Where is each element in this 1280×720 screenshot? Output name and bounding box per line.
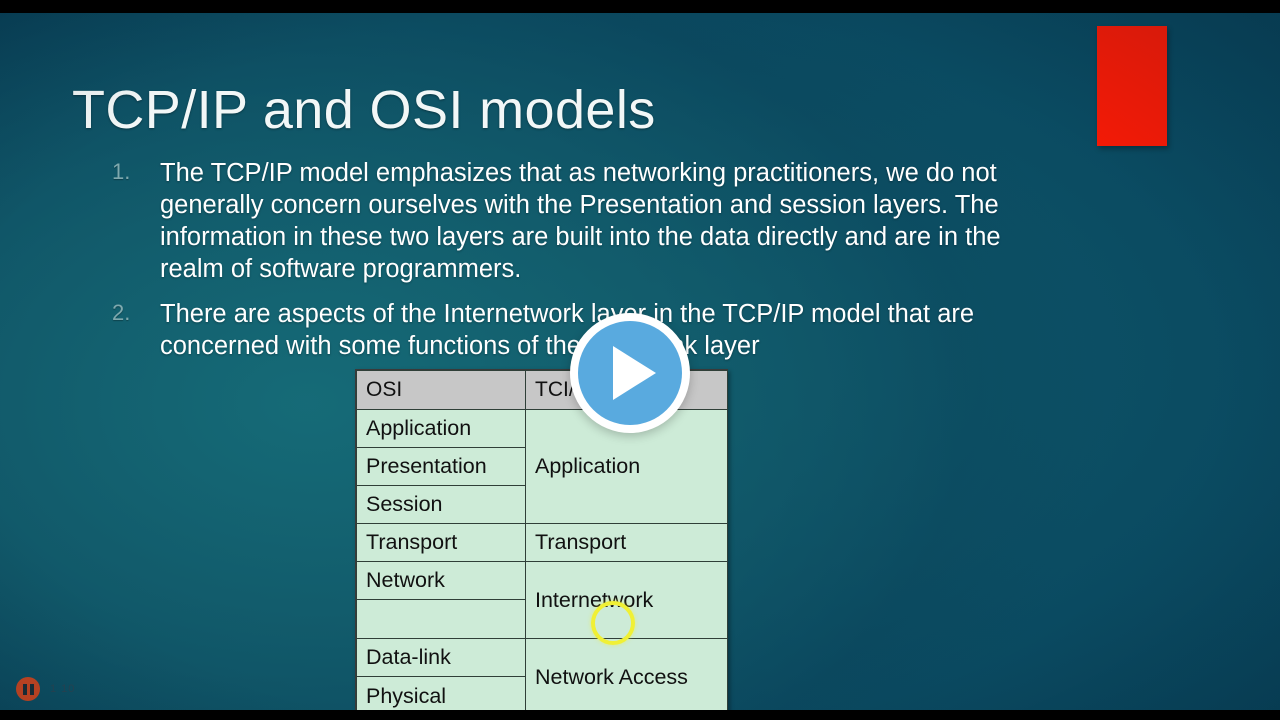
pause-icon[interactable] bbox=[16, 677, 40, 701]
cursor-click-highlight bbox=[591, 601, 635, 645]
play-button[interactable] bbox=[570, 313, 690, 433]
video-player-stage: TCP/IP and OSI models 1. The TCP/IP mode… bbox=[0, 0, 1280, 720]
time-display: 1 10 bbox=[50, 683, 75, 695]
table-cell-osi-presentation: Presentation bbox=[356, 447, 526, 486]
list-item-text: The TCP/IP model emphasizes that as netw… bbox=[160, 159, 1001, 283]
letterbox-bottom bbox=[0, 710, 1280, 720]
bullet-list: 1. The TCP/IP model emphasizes that as n… bbox=[108, 157, 1038, 375]
osi-tcpip-comparison-table: OSI TCI/IP Application Presentation Sess… bbox=[355, 369, 728, 710]
list-item-text: There are aspects of the Internetwork la… bbox=[160, 300, 974, 360]
table-cell-osi-network: Network bbox=[356, 561, 526, 600]
list-item-number: 2. bbox=[112, 300, 146, 326]
table-cell-tcpip-transport: Transport bbox=[525, 523, 728, 562]
table-cell-osi-application: Application bbox=[356, 409, 526, 448]
presentation-slide: TCP/IP and OSI models 1. The TCP/IP mode… bbox=[0, 13, 1280, 710]
table-cell-osi-session: Session bbox=[356, 485, 526, 524]
table-cell-osi-physical: Physical bbox=[356, 676, 526, 710]
page-title: TCP/IP and OSI models bbox=[72, 79, 656, 141]
table-cell-osi-data-link: Data-link bbox=[356, 638, 526, 677]
letterbox-top bbox=[0, 0, 1280, 13]
player-controls[interactable]: 1 10 bbox=[16, 677, 75, 701]
table-header-osi: OSI bbox=[356, 370, 526, 410]
table-cell-osi-transport: Transport bbox=[356, 523, 526, 562]
list-item: 1. The TCP/IP model emphasizes that as n… bbox=[108, 157, 1038, 285]
play-triangle-icon bbox=[613, 346, 656, 400]
red-accent-block bbox=[1097, 26, 1167, 146]
table-cell-tcpip-network-access: Network Access bbox=[525, 638, 728, 710]
list-item-number: 1. bbox=[112, 159, 146, 185]
play-icon bbox=[578, 321, 682, 425]
table-cell-osi-spacer bbox=[356, 599, 526, 639]
